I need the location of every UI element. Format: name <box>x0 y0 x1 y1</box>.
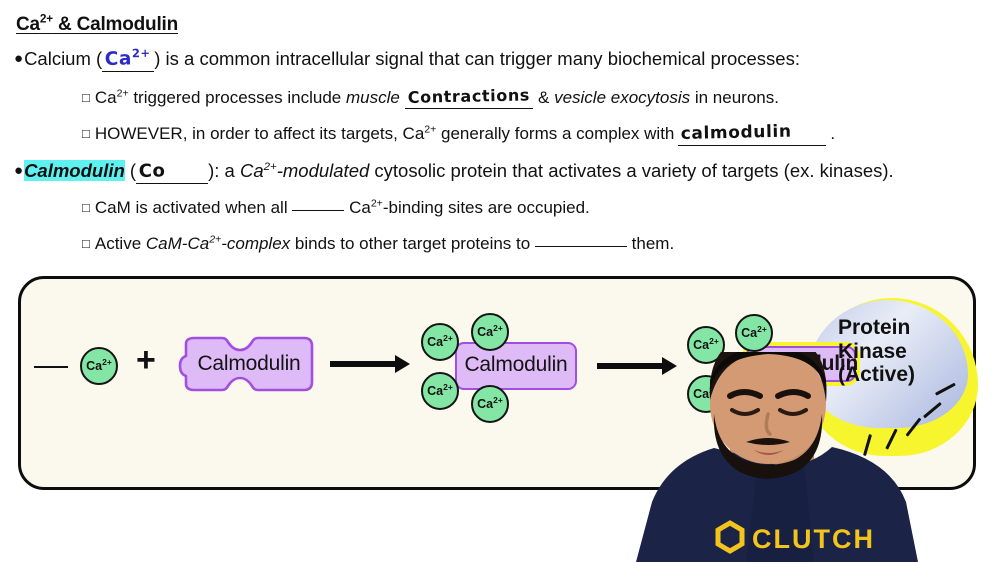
ca-ion-superscript: 2+ <box>443 382 453 392</box>
arrow-head <box>395 355 410 373</box>
ca-ion-label: Ca2+ <box>427 335 453 349</box>
ca-ion-label: Ca2+ <box>477 397 503 411</box>
ca-ion-superscript: 2+ <box>493 395 503 405</box>
calmodulin-bound-label: Calmodulin <box>457 348 575 382</box>
plus-sign: + <box>136 343 156 377</box>
ca-ion-bound-3: Ca2+ <box>421 372 459 410</box>
ca-ion-superscript: 2+ <box>493 323 503 333</box>
ca-ion-bound-4: Ca2+ <box>471 385 509 423</box>
arrow-shaft <box>330 361 396 366</box>
ca-ion-bound-1: Ca2+ <box>421 323 459 361</box>
lecture-slide: Ca2+ & Calmodulin ●Calcium (Ca2+) is a c… <box>0 0 1000 562</box>
ca-ion-complex-2: Ca2+ <box>735 314 773 352</box>
ca-ion-label: Ca2+ <box>427 384 453 398</box>
diagram-fill-blank <box>34 366 68 368</box>
clutch-wordmark: CLUTCH <box>752 524 875 554</box>
ca-ion-superscript: 2+ <box>443 333 453 343</box>
ca-ion-superscript: 2+ <box>709 336 719 346</box>
ca-ion-label: Ca2+ <box>86 359 112 373</box>
presenter-video-overlay: CLUTCH <box>618 352 1000 562</box>
ca-ion-label: Ca2+ <box>693 338 719 352</box>
ca-ion-free: Ca2+ <box>80 347 118 385</box>
ca-ion-bound-2: Ca2+ <box>471 313 509 351</box>
ca-ion-label: Ca2+ <box>477 325 503 339</box>
calmodulin-inactive-label: Calmodulin <box>190 348 308 380</box>
ca-ion-superscript: 2+ <box>757 324 767 334</box>
ca-ion-label: Ca2+ <box>741 326 767 340</box>
kinase-line-1: Protein <box>838 316 968 340</box>
ca-ion-superscript: 2+ <box>102 357 112 367</box>
